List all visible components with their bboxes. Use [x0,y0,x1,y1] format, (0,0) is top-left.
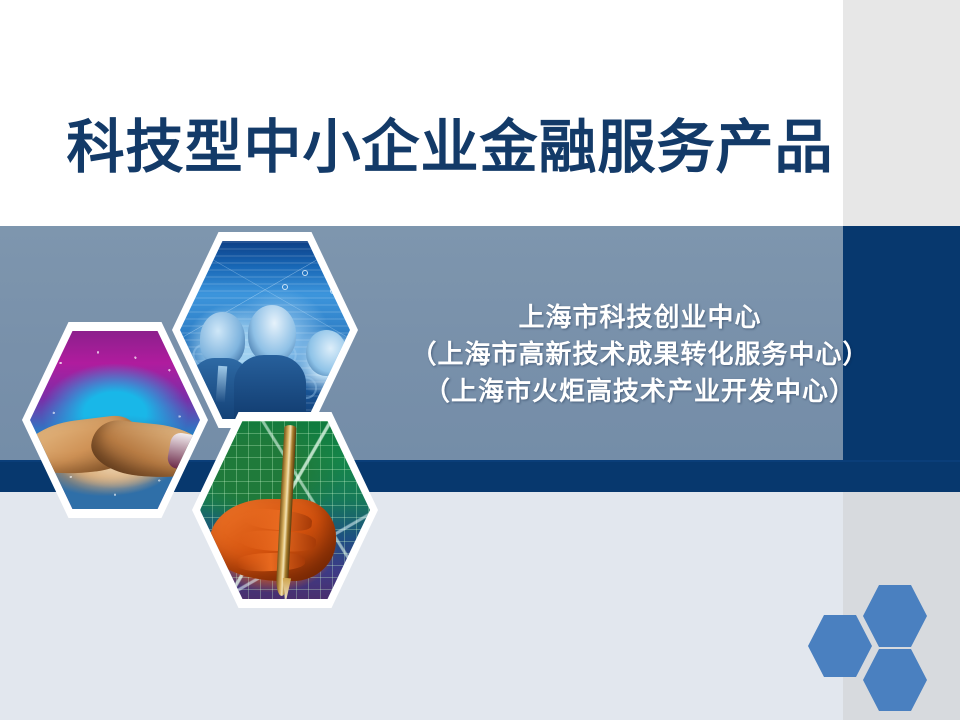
background-band-bottom-light [0,492,960,720]
subtitle-line-2: （上海市高新技术成果转化服务中心） [390,337,890,374]
network-node-icon [282,284,288,290]
presentation-slide: 科技型中小企业金融服务产品 上海市科技创业中心 （上海市高新技术成果转化服务中心… [0,0,960,720]
subtitle-line-1: 上海市科技创业中心 [390,300,890,337]
subtitle-line-3: （上海市火炬高技术产业开发中心） [390,374,890,411]
network-node-icon [302,270,308,276]
background-band-top-white [0,0,960,226]
background-band-right-gray-top [843,0,960,226]
person-head-center [248,305,296,362]
slide-subtitle: 上海市科技创业中心 （上海市高新技术成果转化服务中心） （上海市火炬高技术产业开… [390,300,890,411]
slide-title: 科技型中小企业金融服务产品 [0,118,900,179]
